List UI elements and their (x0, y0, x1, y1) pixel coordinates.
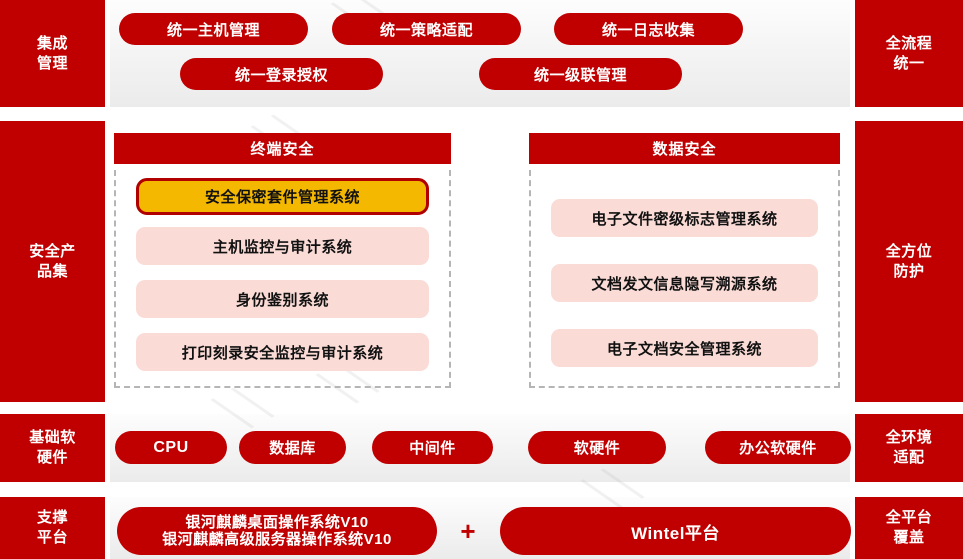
pill-database[interactable]: 数据库 (239, 431, 346, 464)
product-item-label: 安全保密套件管理系统 (205, 186, 360, 207)
plus-separator-label: + (460, 516, 475, 547)
pill-label: 统一策略适配 (380, 19, 473, 40)
row-label-security-product-set-text: 安全产品集 (29, 242, 76, 282)
support-platform-row: 支撑平台 ╲╲ 银河麒麟桌面操作系统V10 银河麒麟高级服务器操作系统V10 +… (0, 497, 963, 559)
row-benefit-full-process-unified-text: 全流程统一 (886, 34, 933, 74)
row-label-security-product-set: 安全产品集 (0, 121, 105, 402)
product-item-doc-steganography-traceability-system[interactable]: 文档发文信息隐写溯源系统 (551, 264, 818, 302)
product-item-edoc-classification-mark-system[interactable]: 电子文件密级标志管理系统 (551, 199, 818, 237)
pill-unified-policy-adaptation[interactable]: 统一策略适配 (332, 13, 521, 45)
row-benefit-full-environment-adaptation-text: 全环境适配 (886, 428, 933, 468)
row-label-support-platform-text: 支撑平台 (37, 508, 68, 548)
group-terminal-security: 终端安全 安全保密套件管理系统 主机监控与审计系统 身份鉴别系统 打印刻录安全监… (114, 133, 451, 399)
base-software-hardware-row: 基础软硬件 ╲╲ CPU 数据库 中间件 软硬件 办公软硬件 全环境适配 (0, 414, 963, 482)
architecture-diagram: 集成管理 ╲╲ 统一主机管理 统一策略适配 统一日志收集 统一登录授权 统一级联… (0, 0, 963, 559)
pill-label-line-1: 银河麒麟桌面操作系统V10 (185, 514, 368, 531)
pill-label: 数据库 (269, 437, 316, 458)
plus-separator: + (453, 507, 483, 555)
pill-unified-login-authorization[interactable]: 统一登录授权 (180, 58, 383, 90)
pill-cpu[interactable]: CPU (115, 431, 227, 464)
security-product-set-row: 安全产品集 ╲╲ ╲╲ 终端安全 安全保密套件管理系统 主机监控与审计系统 (0, 121, 963, 402)
pill-label: 统一日志收集 (602, 19, 695, 40)
pill-software-hardware[interactable]: 软硬件 (528, 431, 666, 464)
product-item-label: 身份鉴别系统 (236, 289, 329, 310)
pill-unified-cascade-management[interactable]: 统一级联管理 (479, 58, 682, 90)
group-header-label: 终端安全 (250, 138, 314, 159)
product-item-label: 主机监控与审计系统 (213, 236, 353, 257)
base-software-hardware-body: ╲╲ CPU 数据库 中间件 软硬件 办公软硬件 (110, 414, 850, 482)
pill-kylin-os[interactable]: 银河麒麟桌面操作系统V10 银河麒麟高级服务器操作系统V10 (117, 507, 437, 555)
group-header-label: 数据安全 (652, 138, 716, 159)
pill-label: 软硬件 (574, 437, 621, 458)
pill-office-software-hardware[interactable]: 办公软硬件 (705, 431, 851, 464)
row-benefit-all-round-protection: 全方位防护 (855, 121, 963, 402)
row-benefit-full-platform-coverage-text: 全平台覆盖 (886, 508, 933, 548)
pill-label: 统一主机管理 (167, 19, 260, 40)
pill-label: 统一级联管理 (534, 64, 627, 85)
product-item-host-monitoring-audit-system[interactable]: 主机监控与审计系统 (136, 227, 429, 265)
product-item-security-suite-management-system[interactable]: 安全保密套件管理系统 (136, 178, 429, 215)
group-header-data-security: 数据安全 (529, 133, 840, 164)
pill-unified-host-management[interactable]: 统一主机管理 (119, 13, 308, 45)
row-benefit-all-round-protection-text: 全方位防护 (886, 242, 933, 282)
product-item-identity-authentication-system[interactable]: 身份鉴别系统 (136, 280, 429, 318)
row-label-support-platform: 支撑平台 (0, 497, 105, 559)
pill-label: 中间件 (409, 437, 456, 458)
product-item-edoc-security-management-system[interactable]: 电子文档安全管理系统 (551, 329, 818, 367)
product-item-label: 电子文档安全管理系统 (607, 338, 762, 359)
row-label-integration-management-text: 集成管理 (37, 34, 68, 74)
row-benefit-full-process-unified: 全流程统一 (855, 0, 963, 107)
row-label-base-software-hardware-text: 基础软硬件 (29, 428, 76, 468)
support-platform-body: ╲╲ 银河麒麟桌面操作系统V10 银河麒麟高级服务器操作系统V10 + Wint… (110, 497, 850, 559)
integration-management-body: ╲╲ 统一主机管理 统一策略适配 统一日志收集 统一登录授权 统一级联管理 (110, 0, 850, 107)
product-item-label: 电子文件密级标志管理系统 (591, 208, 777, 229)
product-item-label: 打印刻录安全监控与审计系统 (182, 342, 384, 363)
pill-label: Wintel平台 (631, 519, 720, 544)
pill-middleware[interactable]: 中间件 (372, 431, 493, 464)
row-benefit-full-environment-adaptation: 全环境适配 (855, 414, 963, 482)
pill-wintel-platform[interactable]: Wintel平台 (500, 507, 851, 555)
row-label-integration-management: 集成管理 (0, 0, 105, 107)
product-item-label: 文档发文信息隐写溯源系统 (591, 273, 777, 294)
product-item-print-burn-monitoring-audit-system[interactable]: 打印刻录安全监控与审计系统 (136, 333, 429, 371)
group-header-terminal-security: 终端安全 (114, 133, 451, 164)
pill-label: 统一登录授权 (235, 64, 328, 85)
group-data-security: 数据安全 电子文件密级标志管理系统 文档发文信息隐写溯源系统 电子文档安全管理系… (529, 133, 840, 399)
pill-label-line-2: 银河麒麟高级服务器操作系统V10 (162, 531, 392, 548)
integration-management-row: 集成管理 ╲╲ 统一主机管理 统一策略适配 统一日志收集 统一登录授权 统一级联… (0, 0, 963, 107)
row-benefit-full-platform-coverage: 全平台覆盖 (855, 497, 963, 559)
group-body-data-security: 电子文件密级标志管理系统 文档发文信息隐写溯源系统 电子文档安全管理系统 (529, 170, 840, 388)
pill-unified-log-collection[interactable]: 统一日志收集 (554, 13, 743, 45)
group-body-terminal-security: 安全保密套件管理系统 主机监控与审计系统 身份鉴别系统 打印刻录安全监控与审计系… (114, 170, 451, 388)
pill-label: CPU (153, 439, 188, 457)
security-product-set-body: ╲╲ ╲╲ 终端安全 安全保密套件管理系统 主机监控与审计系统 身份鉴别系统 (110, 121, 850, 402)
row-label-base-software-hardware: 基础软硬件 (0, 414, 105, 482)
pill-label: 办公软硬件 (739, 437, 817, 458)
